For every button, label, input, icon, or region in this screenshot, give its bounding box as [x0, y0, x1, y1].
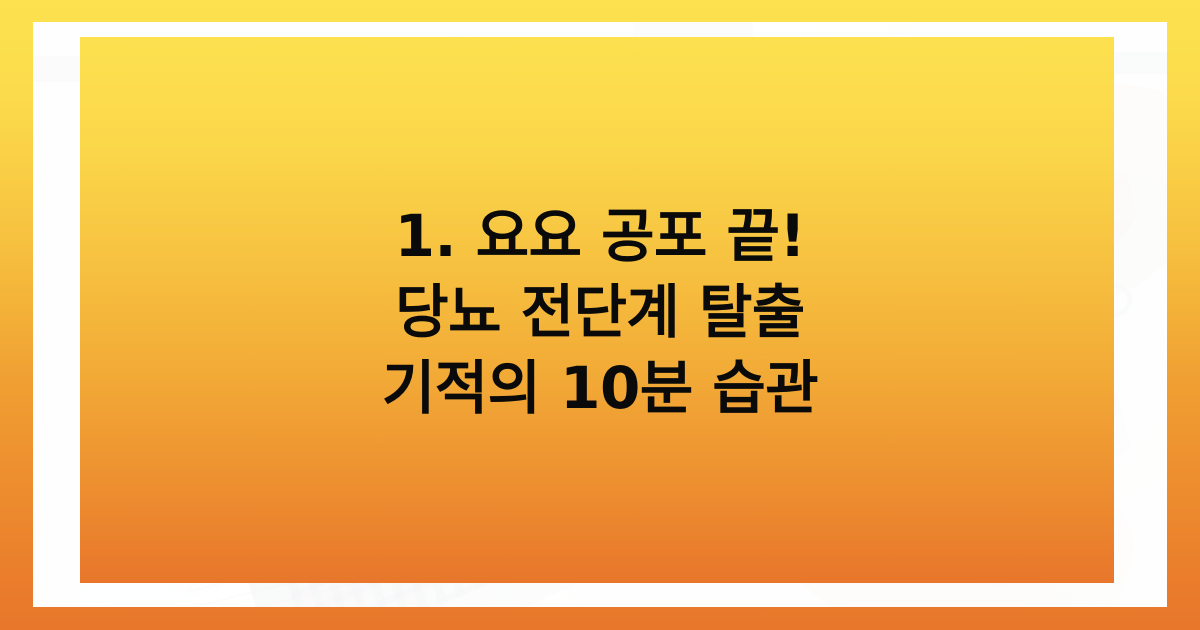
- headline-line-3: 기적의 10분 습관: [0, 350, 1200, 426]
- promo-card: 1. 요요 공포 끝! 당뇨 전단계 탈출 기적의 10분 습관: [0, 0, 1200, 630]
- headline-block: 1. 요요 공포 끝! 당뇨 전단계 탈출 기적의 10분 습관: [0, 198, 1200, 426]
- headline-line-2: 당뇨 전단계 탈출: [0, 274, 1200, 350]
- headline-line-1: 1. 요요 공포 끝!: [0, 198, 1200, 274]
